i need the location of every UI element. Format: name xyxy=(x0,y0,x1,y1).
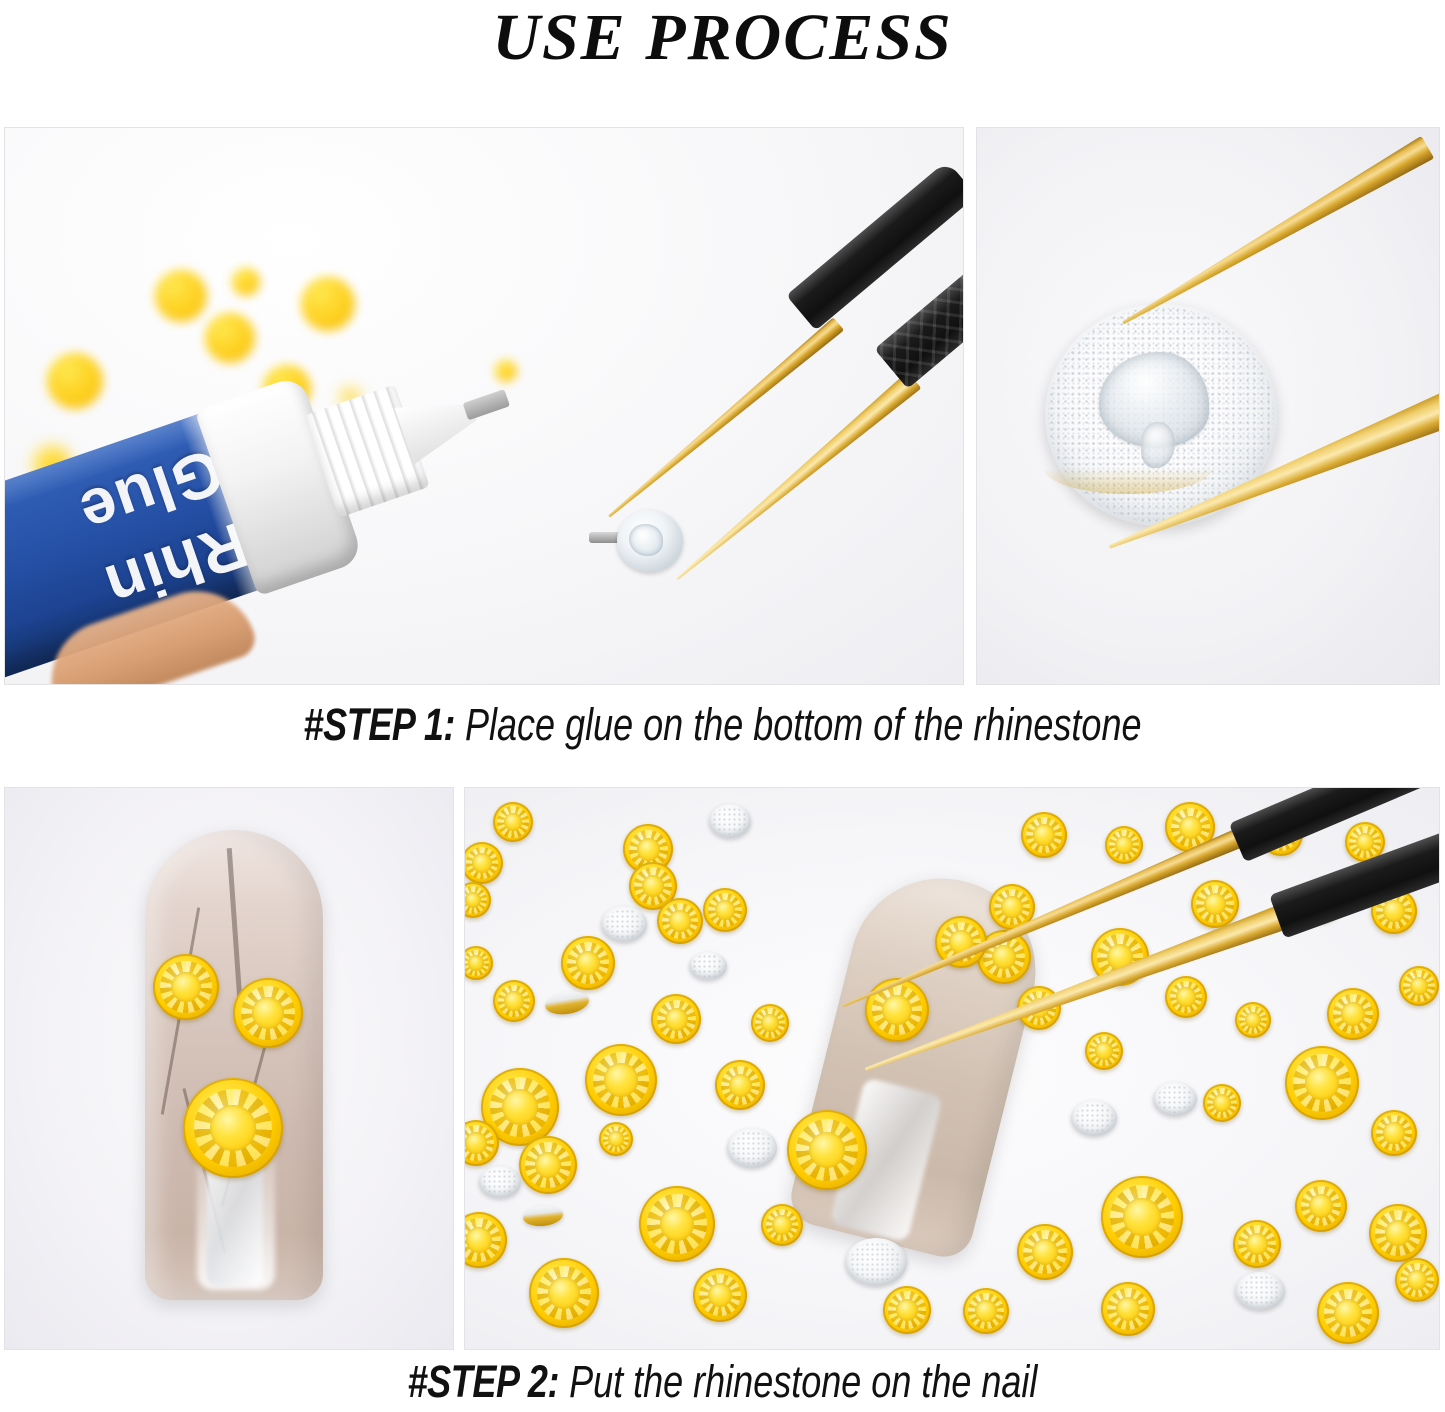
rhinestone-icon xyxy=(1317,1282,1379,1344)
placing-rhinestone-photo xyxy=(464,787,1440,1350)
rhinestone-foil-back-icon xyxy=(479,1166,521,1198)
rhinestone-icon xyxy=(1395,1258,1439,1302)
rhinestone-icon xyxy=(153,954,219,1020)
rhinestone-icon xyxy=(205,313,255,363)
rhinestone-icon xyxy=(639,1186,715,1262)
page-title: USE PROCESS xyxy=(0,2,1445,74)
rhinestone-icon xyxy=(232,268,260,296)
rhinestone-icon xyxy=(703,888,747,932)
rhinestone-icon xyxy=(585,1044,657,1116)
rhinestone-foil-back-icon xyxy=(1071,1100,1117,1136)
rhinestone-icon xyxy=(493,802,533,842)
step-1-image-row: RhinGlue xyxy=(4,127,1440,685)
rhinestone-icon xyxy=(1371,1110,1417,1156)
rhinestone-icon xyxy=(761,1204,803,1246)
rhinestone-icon xyxy=(883,1286,931,1334)
step-2-image-row xyxy=(4,787,1440,1350)
rhinestone-icon xyxy=(1369,1204,1427,1262)
step-1-text: Place glue on the bottom of the rhinesto… xyxy=(455,699,1141,750)
rhinestone-icon xyxy=(301,277,355,331)
rhinestone-icon xyxy=(155,270,207,322)
glue-application-photo: RhinGlue xyxy=(4,127,964,685)
rhinestone-icon xyxy=(1233,1220,1281,1268)
rhinestone-icon xyxy=(561,936,615,990)
rhinestone-icon xyxy=(233,978,303,1048)
rhinestone-foil-back-icon xyxy=(845,1238,907,1286)
rhinestone-icon xyxy=(787,1110,867,1190)
tweezers-icon xyxy=(765,787,1440,1104)
tweezers-icon xyxy=(1127,142,1440,612)
rhinestone-icon xyxy=(1295,1180,1347,1232)
rhinestone-icon xyxy=(599,1122,633,1156)
rhinestone-icon xyxy=(1101,1282,1155,1336)
rhinestone-icon xyxy=(495,360,517,382)
rhinestone-icon xyxy=(651,994,701,1044)
step-2-caption: #STEP 2: Put the rhinestone on the nail xyxy=(145,1356,1301,1408)
rhinestone-icon xyxy=(529,1258,599,1328)
rhinestone-icon xyxy=(1101,1176,1183,1258)
rhinestone-icon xyxy=(519,1136,577,1194)
step-1-label: #STEP 1: xyxy=(304,699,456,750)
rhinestone-icon xyxy=(693,1268,747,1322)
use-process-infographic: USE PROCESS xyxy=(0,0,1445,1412)
rhinestone-icon xyxy=(47,353,103,409)
rhinestone-icon xyxy=(657,898,703,944)
rhinestone-icon xyxy=(963,1288,1009,1334)
nail-icon xyxy=(145,830,323,1300)
step-1-caption: #STEP 1: Place glue on the bottom of the… xyxy=(145,699,1301,751)
rhinestone-foil-back-icon xyxy=(727,1128,777,1168)
rhinestone-icon xyxy=(617,510,683,572)
rhinestone-foil-back-icon xyxy=(601,906,647,942)
rhinestone-icon xyxy=(1017,1224,1073,1280)
step-2-text: Put the rhinestone on the nail xyxy=(559,1356,1037,1407)
rhinestone-foil-back-icon xyxy=(709,804,751,838)
rhinestone-back-closeup-photo xyxy=(976,127,1440,685)
rhinestone-foil-back-icon xyxy=(1235,1272,1285,1310)
step-2-label: #STEP 2: xyxy=(408,1356,560,1407)
rhinestone-icon xyxy=(493,980,535,1022)
rhinestone-icon xyxy=(715,1060,765,1110)
rhinestone-foil-back-icon xyxy=(689,952,727,980)
finished-nail-photo xyxy=(4,787,454,1350)
rhinestone-icon xyxy=(183,1078,283,1178)
